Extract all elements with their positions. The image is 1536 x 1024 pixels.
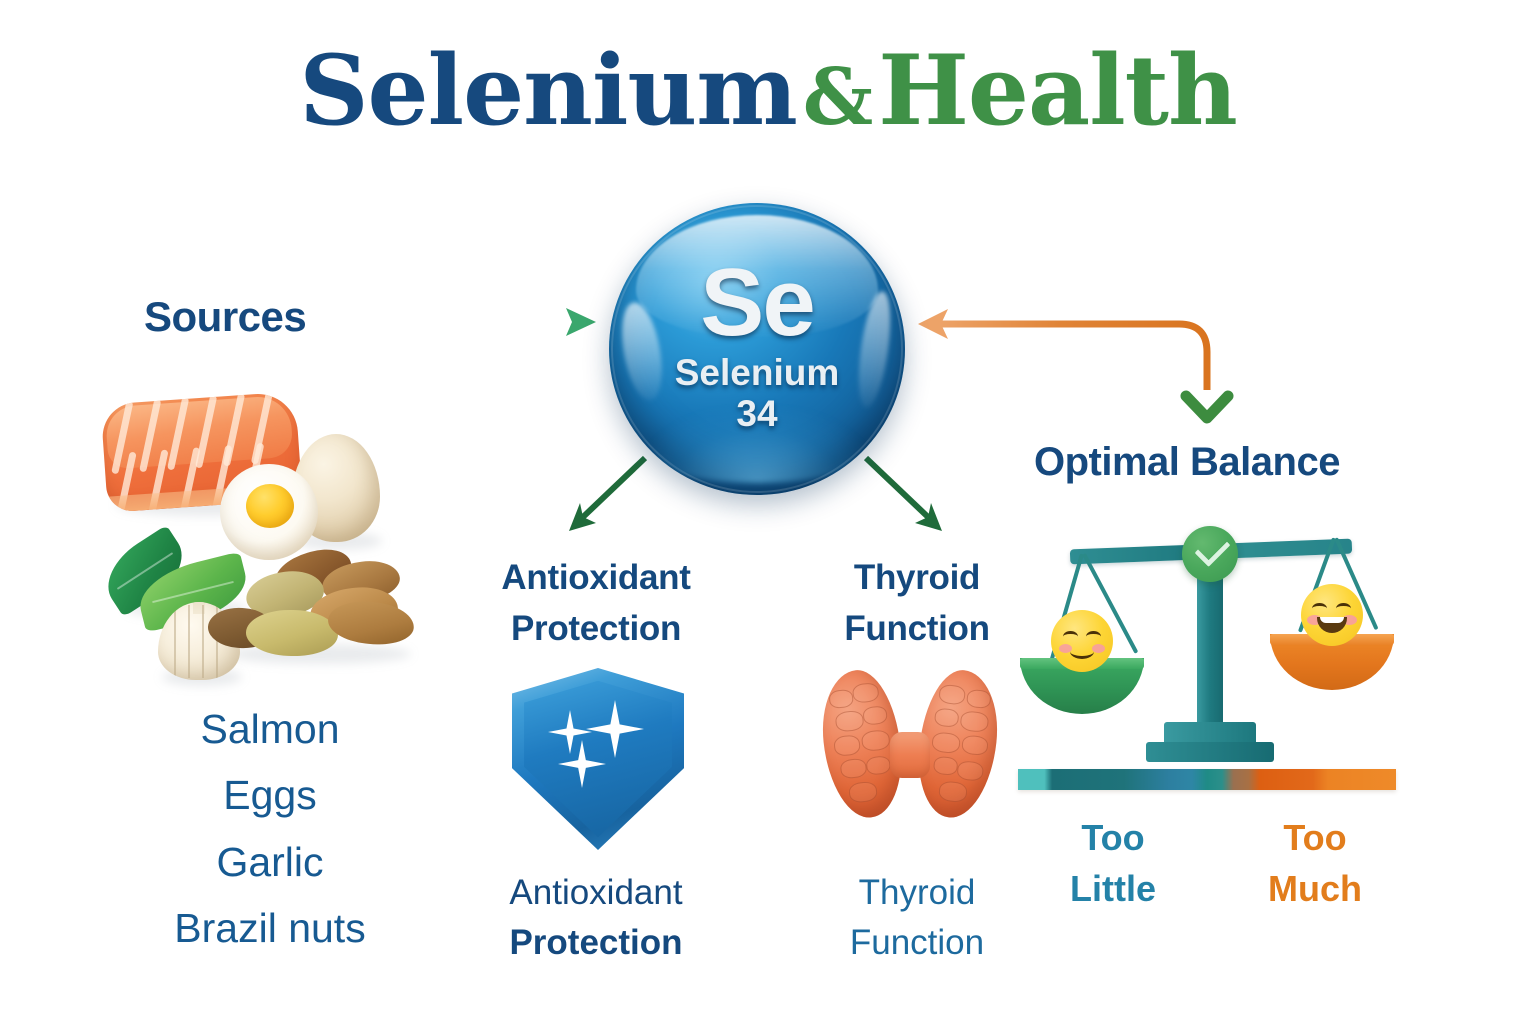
antioxidant-caption-line1: Antioxidant	[509, 873, 682, 912]
thyroid-gland-icon	[824, 670, 996, 820]
scale-base-top	[1164, 722, 1256, 744]
antioxidant-caption: Antioxidant Protection	[452, 868, 740, 967]
antioxidant-heading-line1: Antioxidant	[452, 552, 740, 603]
shield-sparkle-icon	[512, 668, 684, 850]
element-name: Selenium	[675, 354, 840, 393]
thyroid-caption: Thyroid Function	[790, 868, 1044, 967]
list-item: Salmon	[120, 696, 420, 762]
checkmark-glyph	[1194, 531, 1230, 567]
scale-column	[1197, 566, 1223, 726]
shield-inner	[524, 681, 672, 838]
balance-scale-illustration	[1012, 516, 1408, 782]
too-much-line1: Too	[1234, 812, 1396, 863]
food-sources-illustration	[96, 386, 426, 686]
antioxidant-heading: Antioxidant Protection	[452, 552, 740, 654]
grinning-face-icon	[1301, 584, 1363, 646]
page-title: Selenium&Health	[0, 36, 1536, 146]
too-little-line1: Too	[1032, 812, 1194, 863]
list-item: Brazil nuts	[120, 895, 420, 961]
arrow-sources-to-element	[372, 308, 596, 336]
antioxidant-heading-line2: Protection	[452, 603, 740, 654]
scale-base-bottom	[1146, 742, 1274, 762]
egg-yolk	[246, 484, 294, 528]
thyroid-heading: Thyroid Function	[790, 552, 1044, 654]
smiling-face-icon	[1051, 610, 1113, 672]
arrow-balance-to-element	[918, 309, 1207, 390]
infographic-canvas: Selenium&Health	[0, 0, 1536, 1024]
thyroid-caption-line2: Function	[790, 918, 1044, 968]
element-symbol: Se	[700, 257, 813, 348]
thyroid-isthmus	[890, 732, 930, 778]
brazil-nut-icon	[326, 598, 416, 649]
selenium-element-sphere[interactable]: Se Selenium 34	[609, 203, 905, 495]
title-part-health: Health	[878, 34, 1237, 147]
sphere-text-block: Se Selenium 34	[609, 203, 905, 495]
list-item: Eggs	[120, 762, 420, 828]
sources-list: Salmon Eggs Garlic Brazil nuts	[120, 696, 420, 962]
too-little-line2: Little	[1032, 863, 1194, 914]
thyroid-caption-line1: Thyroid	[790, 868, 1044, 918]
too-much-label: Too Much	[1234, 812, 1396, 914]
too-much-line2: Much	[1234, 863, 1396, 914]
element-atomic-number: 34	[736, 395, 777, 434]
check-circle-icon	[1182, 526, 1238, 582]
list-item: Garlic	[120, 829, 420, 895]
title-ampersand: &	[797, 52, 878, 143]
too-little-label: Too Little	[1032, 812, 1194, 914]
thyroid-heading-line2: Function	[790, 603, 1044, 654]
intake-gradient-bar	[1018, 769, 1396, 790]
chevron-down-icon	[1186, 396, 1228, 418]
boiled-egg-half-icon	[220, 464, 318, 560]
title-part-selenium: Selenium	[299, 34, 797, 147]
antioxidant-caption-line2: Protection	[452, 918, 740, 968]
optimal-balance-heading: Optimal Balance	[1034, 440, 1340, 485]
thyroid-heading-line1: Thyroid	[790, 552, 1044, 603]
sources-heading: Sources	[144, 293, 306, 341]
